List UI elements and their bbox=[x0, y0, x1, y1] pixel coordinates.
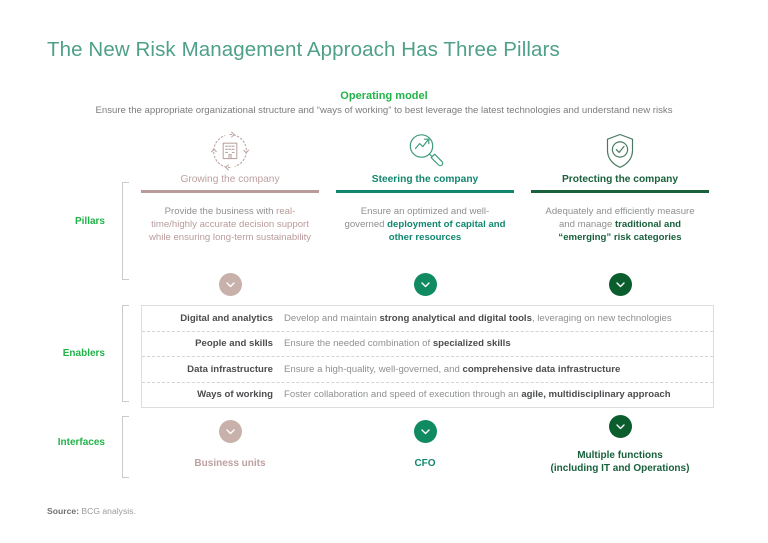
magnifier-trend-icon bbox=[336, 128, 514, 174]
enabler-desc-post: , leveraging on new technologies bbox=[532, 313, 672, 324]
pillar-body-protecting: Adequately and efficiently measure and m… bbox=[531, 205, 709, 245]
enabler-desc-bold: strong analytical and digital tools bbox=[379, 313, 531, 324]
interface-label-line2: (including IT and Operations) bbox=[531, 462, 709, 475]
enabler-desc-bold: agile, multidisciplinary approach bbox=[521, 389, 670, 400]
chevron-row-interfaces-multiple-functions bbox=[531, 415, 709, 438]
shield-check-icon bbox=[531, 128, 709, 174]
interface-label-line1: Multiple functions bbox=[531, 449, 709, 462]
chevron-row-interfaces-business-units bbox=[141, 420, 319, 443]
pillar-column-growing: Growing the company Provide the business… bbox=[141, 128, 319, 244]
enabler-description: Ensure the needed combination of special… bbox=[284, 338, 713, 349]
pillar-heading-growing: Growing the company bbox=[141, 174, 319, 190]
interface-label-business-units: Business units bbox=[141, 457, 319, 470]
table-row: Data infrastructure Ensure a high-qualit… bbox=[142, 357, 713, 383]
pillar-column-protecting: Protecting the company Adequately and ef… bbox=[531, 128, 709, 244]
chevron-row-interfaces-cfo bbox=[336, 420, 514, 443]
chevron-row-pillars-protecting bbox=[531, 273, 709, 296]
interface-label-cfo: CFO bbox=[336, 457, 514, 470]
bracket-pillars bbox=[122, 182, 129, 280]
pillar-rule-growing bbox=[141, 190, 319, 193]
pillar-body-growing: Provide the business with real-time/high… bbox=[141, 205, 319, 245]
pillar-body-highlight-steering: deployment of capital and other resource… bbox=[387, 219, 505, 243]
chevron-down-icon-growing[interactable] bbox=[219, 273, 242, 296]
enabler-label: Data infrastructure bbox=[142, 364, 284, 375]
pillar-body-plain-growing: Provide the business with bbox=[165, 206, 274, 217]
chevron-down-icon-business-units[interactable] bbox=[219, 420, 242, 443]
pillar-rule-steering bbox=[336, 190, 514, 193]
row-label-interfaces: Interfaces bbox=[15, 437, 105, 448]
enabler-label: People and skills bbox=[142, 338, 284, 349]
row-label-enablers: Enablers bbox=[15, 348, 105, 359]
enabler-desc-bold: comprehensive data infrastructure bbox=[462, 364, 620, 375]
source-prefix: Source: bbox=[47, 506, 79, 516]
chevron-down-icon-protecting[interactable] bbox=[609, 273, 632, 296]
chevron-row-pillars-growing bbox=[141, 273, 319, 296]
enablers-table: Digital and analytics Develop and mainta… bbox=[141, 305, 714, 408]
enabler-desc-bold: specialized skills bbox=[433, 338, 511, 349]
interface-label-multiple-functions: Multiple functions (including IT and Ope… bbox=[531, 449, 709, 475]
building-cycle-icon bbox=[141, 128, 319, 174]
row-label-pillars: Pillars bbox=[15, 216, 105, 227]
chevron-down-icon-multiple-functions[interactable] bbox=[609, 415, 632, 438]
source-note: Source: BCG analysis. bbox=[47, 506, 136, 516]
operating-model-title: Operating model bbox=[0, 90, 768, 102]
pillar-heading-protecting: Protecting the company bbox=[531, 174, 709, 190]
pillar-heading-steering: Steering the company bbox=[336, 174, 514, 190]
table-row: Ways of working Foster collaboration and… bbox=[142, 383, 713, 408]
chevron-down-icon-steering[interactable] bbox=[414, 273, 437, 296]
enabler-desc-pre: Foster collaboration and speed of execut… bbox=[284, 389, 521, 400]
chevron-down-icon-cfo[interactable] bbox=[414, 420, 437, 443]
chevron-row-pillars-steering bbox=[336, 273, 514, 296]
enabler-description: Develop and maintain strong analytical a… bbox=[284, 313, 713, 324]
pillar-column-steering: Steering the company Ensure an optimized… bbox=[336, 128, 514, 244]
enabler-label: Ways of working bbox=[142, 389, 284, 400]
table-row: People and skills Ensure the needed comb… bbox=[142, 332, 713, 358]
enabler-desc-pre: Ensure a high-quality, well-governed, an… bbox=[284, 364, 462, 375]
pillar-rule-protecting bbox=[531, 190, 709, 193]
source-text: BCG analysis. bbox=[79, 506, 136, 516]
enabler-desc-pre: Develop and maintain bbox=[284, 313, 379, 324]
page-title: The New Risk Management Approach Has Thr… bbox=[47, 38, 560, 62]
pillar-body-steering: Ensure an optimized and well-governed de… bbox=[336, 205, 514, 245]
operating-model-description: Ensure the appropriate organizational st… bbox=[0, 105, 768, 116]
bracket-interfaces bbox=[122, 416, 129, 478]
enabler-label: Digital and analytics bbox=[142, 313, 284, 324]
enabler-description: Foster collaboration and speed of execut… bbox=[284, 389, 713, 400]
table-row: Digital and analytics Develop and mainta… bbox=[142, 306, 713, 332]
bracket-enablers bbox=[122, 305, 129, 402]
enabler-desc-pre: Ensure the needed combination of bbox=[284, 338, 433, 349]
enabler-description: Ensure a high-quality, well-governed, an… bbox=[284, 364, 713, 375]
